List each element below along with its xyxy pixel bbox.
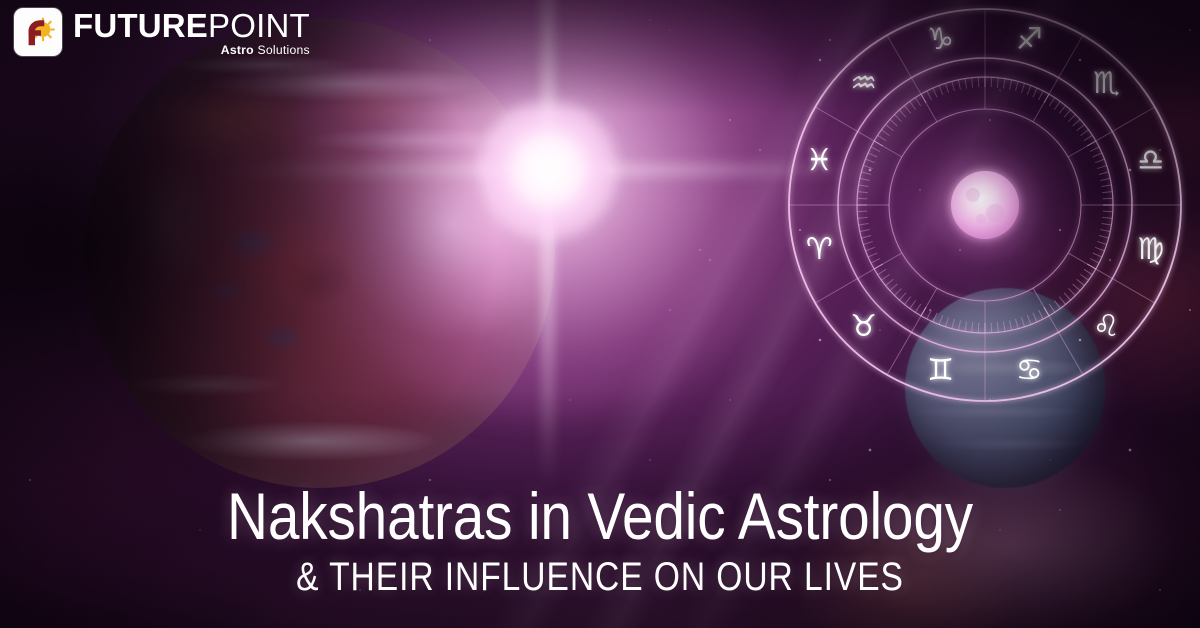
logo-tagline-astro: Astro bbox=[221, 43, 254, 57]
headline-block: Nakshatras in Vedic Astrology & THEIR IN… bbox=[0, 482, 1200, 600]
logo-tagline-solutions: Solutions bbox=[257, 43, 309, 57]
logo-word-point: POINT bbox=[208, 7, 310, 44]
logo-tagline: Astro Solutions bbox=[73, 43, 310, 57]
logo-text-block: FUTUREPOINT Astro Solutions bbox=[73, 8, 310, 57]
page-title: Nakshatras in Vedic Astrology bbox=[84, 482, 1116, 550]
logo-wordmark: FUTUREPOINT bbox=[73, 9, 310, 42]
astrology-banner: ♑♐♏♎♍♌♋♊♉♈♓♒ bbox=[0, 0, 1200, 628]
logo-word-future: FUTURE bbox=[73, 7, 208, 44]
page-subtitle: & THEIR INFLUENCE ON OUR LIVES bbox=[96, 554, 1104, 600]
futurepoint-logo[interactable]: FUTUREPOINT Astro Solutions bbox=[14, 8, 310, 57]
futurepoint-sun-f-logo-icon bbox=[14, 8, 62, 56]
